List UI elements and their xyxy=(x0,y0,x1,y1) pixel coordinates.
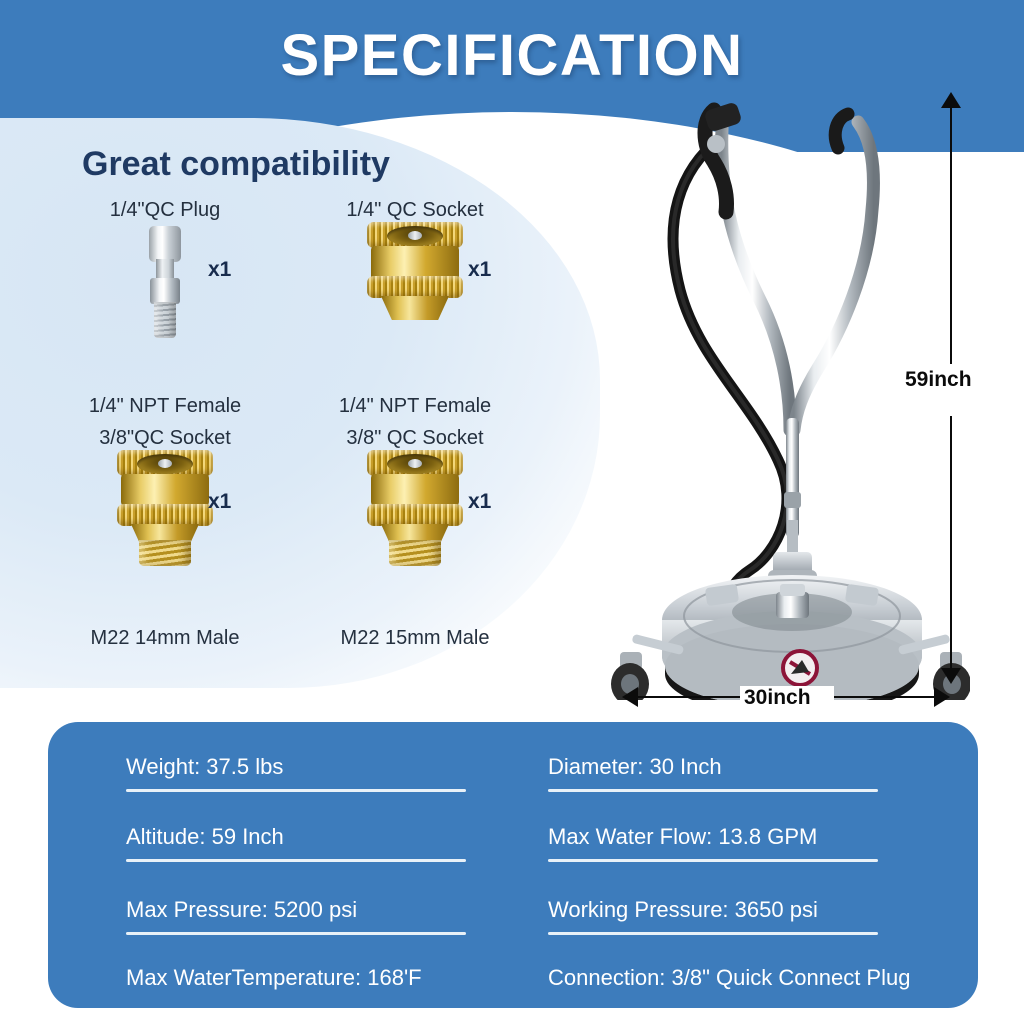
spec-text: Diameter: 30 Inch xyxy=(548,754,978,780)
spec-text: Max Pressure: 5200 psi xyxy=(126,897,496,923)
compat-part-1: 1/4"QC Plug x1 1/4" NPT Female xyxy=(40,200,290,416)
spec-divider xyxy=(126,789,466,792)
brass-socket-icon: x1 xyxy=(40,448,290,566)
spec-row: Diameter: 30 Inch xyxy=(548,754,978,792)
spec-text: Working Pressure: 3650 psi xyxy=(548,897,978,923)
spec-column-left: Weight: 37.5 lbs Altitude: 59 Inch Max P… xyxy=(126,722,546,1008)
spec-row: Altitude: 59 Inch xyxy=(126,824,496,862)
part-top-label: 1/4" QC Socket xyxy=(290,200,540,220)
spec-divider xyxy=(548,932,878,935)
specification-panel: Weight: 37.5 lbs Altitude: 59 Inch Max P… xyxy=(48,722,978,1008)
spec-row: Max Water Flow: 13.8 GPM xyxy=(548,824,978,862)
part-bottom-label: M22 14mm Male xyxy=(40,628,290,648)
compatibility-heading: Great compatibility xyxy=(82,145,390,184)
chrome-plug-icon: x1 xyxy=(40,220,290,338)
compat-part-4: 3/8" QC Socket x1 M22 15mm Male xyxy=(290,428,540,648)
part-quantity: x1 xyxy=(468,258,491,282)
spec-divider xyxy=(548,859,878,862)
spec-column-right: Diameter: 30 Inch Max Water Flow: 13.8 G… xyxy=(548,722,968,1008)
spec-row: Working Pressure: 3650 psi xyxy=(548,897,978,935)
part-quantity: x1 xyxy=(468,490,491,514)
compat-part-2: 1/4" QC Socket x1 1/4" NPT Female xyxy=(290,200,540,416)
spec-row: Max WaterTemperature: 168'F xyxy=(126,965,496,991)
brass-socket-icon: x1 xyxy=(290,448,540,566)
specification-infographic: SPECIFICATION Great compatibility 1/4"QC… xyxy=(0,0,1024,1024)
page-title: SPECIFICATION xyxy=(0,22,1024,89)
part-quantity: x1 xyxy=(208,490,231,514)
compat-part-3: 3/8"QC Socket x1 M22 14mm Male xyxy=(40,428,290,648)
spec-text: Max Water Flow: 13.8 GPM xyxy=(548,824,978,850)
spec-divider xyxy=(126,859,466,862)
spec-divider xyxy=(126,932,466,935)
part-top-label: 3/8"QC Socket xyxy=(40,428,290,448)
part-bottom-label: 1/4" NPT Female xyxy=(40,396,290,416)
spec-text: Connection: 3/8" Quick Connect Plug xyxy=(548,965,978,991)
spec-row: Weight: 37.5 lbs xyxy=(126,754,496,792)
height-dimension-label: 59inch xyxy=(905,368,972,392)
spec-text: Max WaterTemperature: 168'F xyxy=(126,965,496,991)
part-bottom-label: 1/4" NPT Female xyxy=(290,396,540,416)
part-top-label: 3/8" QC Socket xyxy=(290,428,540,448)
part-bottom-label: M22 15mm Male xyxy=(290,628,540,648)
brass-socket-icon: x1 xyxy=(290,220,540,338)
spec-text: Altitude: 59 Inch xyxy=(126,824,496,850)
spec-row: Connection: 3/8" Quick Connect Plug xyxy=(548,965,978,991)
part-quantity: x1 xyxy=(208,258,231,282)
spec-divider xyxy=(548,789,878,792)
product-image xyxy=(610,100,970,700)
spec-row: Max Pressure: 5200 psi xyxy=(126,897,496,935)
part-top-label: 1/4"QC Plug xyxy=(40,200,290,220)
spec-text: Weight: 37.5 lbs xyxy=(126,754,496,780)
width-dimension-label: 30inch xyxy=(744,686,811,710)
